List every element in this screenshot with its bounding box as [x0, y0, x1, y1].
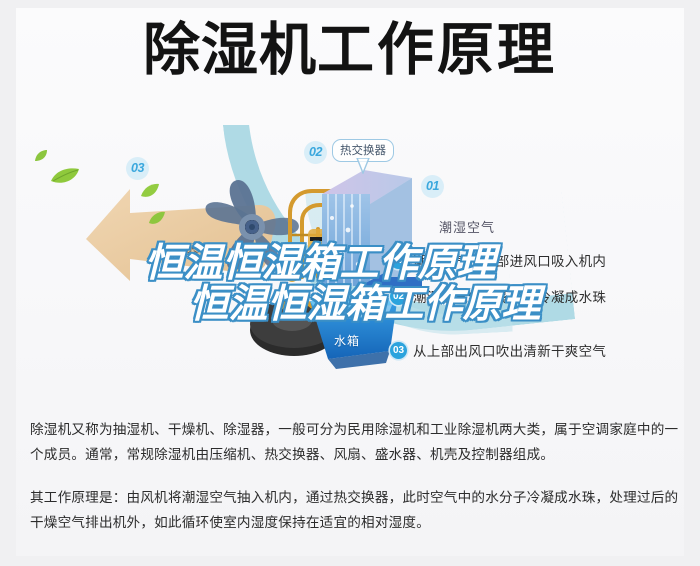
- title-part-a: 除湿机: [143, 17, 317, 83]
- step-item-02: 02 潮湿空气经过蒸发器冷凝成水珠: [390, 286, 606, 306]
- title-part-b: 工作原理: [317, 17, 557, 83]
- body-copy: 除湿机又称为抽湿机、干燥机、除湿器，一般可分为民用除湿机和工业除湿机两大类，属于…: [30, 418, 680, 536]
- diagram-badge-03: 03: [126, 157, 149, 180]
- water-tank-label: 水箱: [334, 332, 360, 349]
- infographic-page: 除湿机工作原理 干燥空气: [0, 0, 700, 566]
- step-item-01: 01 潮湿空气由下部进风口吸入机内: [390, 250, 606, 270]
- leaf-icon-left: [50, 167, 80, 185]
- step-number-01: 01: [390, 252, 407, 269]
- paragraph-2: 其工作原理是：由风机将潮湿空气抽入机内，通过热交换器，此时空气中的水分子冷凝成水…: [30, 486, 680, 536]
- leaf-icon-mid: [140, 183, 160, 199]
- leaf-icon-low: [148, 211, 166, 226]
- page-title: 除湿机工作原理: [0, 22, 700, 79]
- step-text-02: 潮湿空气经过蒸发器冷凝成水珠: [413, 286, 606, 306]
- step-number-02: 02: [390, 288, 407, 305]
- humid-air-label: 潮湿空气: [439, 217, 495, 236]
- heat-exchanger-icon: [316, 160, 426, 290]
- diagram-badge-01: 01: [421, 175, 444, 198]
- step-number-03: 03: [390, 342, 407, 359]
- leaf-icon-small: [34, 149, 48, 163]
- step-text-01: 潮湿空气由下部进风口吸入机内: [413, 250, 606, 270]
- paragraph-1: 除湿机又称为抽湿机、干燥机、除湿器，一般可分为民用除湿机和工业除湿机两大类，属于…: [30, 418, 680, 468]
- callout-tail-icon: [356, 158, 370, 174]
- step-item-03: 03 从上部出风口吹出清新干爽空气: [390, 340, 606, 360]
- diagram-badge-02: 02: [304, 141, 327, 164]
- step-text-03: 从上部出风口吹出清新干爽空气: [413, 340, 606, 360]
